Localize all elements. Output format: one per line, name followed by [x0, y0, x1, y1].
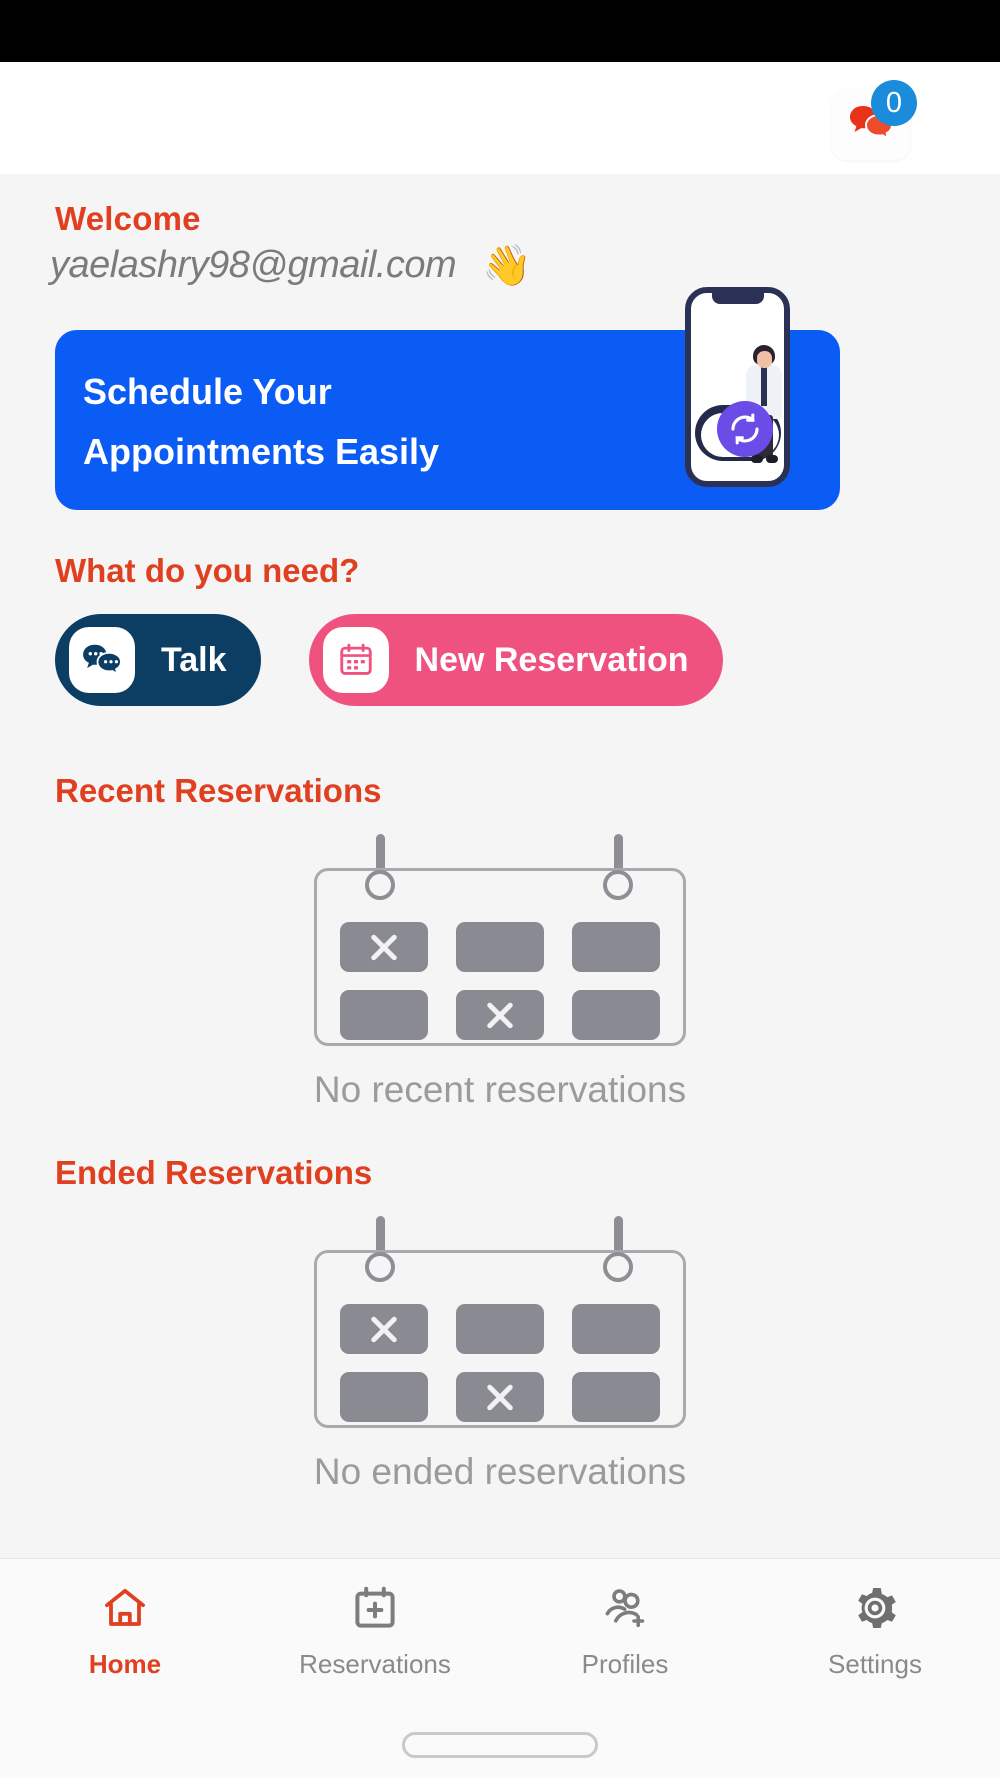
- nav-item-profiles[interactable]: Profiles: [500, 1581, 750, 1680]
- nav-label-profiles: Profiles: [582, 1649, 669, 1680]
- status-bar: [0, 0, 1000, 62]
- new-reservation-button[interactable]: New Reservation: [309, 614, 723, 706]
- sync-icon: [717, 401, 773, 457]
- home-indicator-area: [0, 1714, 1000, 1778]
- home-page: Welcome yaelashry98@gmail.com 👋 Schedule…: [0, 174, 1000, 1558]
- nav-item-reservations[interactable]: Reservations: [250, 1581, 500, 1680]
- quick-actions: Talk: [55, 614, 723, 706]
- users-add-icon: [600, 1581, 650, 1635]
- ended-reservations-empty-state: No ended reservations: [0, 1216, 1000, 1493]
- ended-empty-text: No ended reservations: [0, 1451, 1000, 1493]
- home-indicator[interactable]: [402, 1732, 598, 1758]
- app-screen: 0 Welcome yaelashry98@gmail.com 👋 Schedu…: [0, 0, 1000, 1778]
- bottom-navigation: Home Reservations: [0, 1558, 1000, 1714]
- nav-label-reservations: Reservations: [299, 1649, 451, 1680]
- promo-banner-title-line1: Schedule Your: [83, 362, 603, 422]
- phone-notch: [712, 293, 764, 304]
- waving-hand-icon: 👋: [482, 246, 532, 286]
- home-icon: [100, 1581, 150, 1635]
- recent-empty-text: No recent reservations: [0, 1069, 1000, 1111]
- talk-button-label: Talk: [161, 641, 227, 680]
- calendar-plus-icon: [351, 1581, 399, 1635]
- nav-label-home: Home: [89, 1649, 161, 1680]
- promo-banner-title: Schedule Your Appointments Easily: [83, 362, 603, 482]
- welcome-label: Welcome: [55, 200, 201, 238]
- nav-item-home[interactable]: Home: [0, 1581, 250, 1680]
- calendar-empty-icon: [314, 1216, 686, 1428]
- chat-unread-badge: 0: [871, 80, 917, 126]
- user-email-row: yaelashry98@gmail.com 👋: [50, 244, 532, 287]
- needs-heading: What do you need?: [55, 552, 359, 590]
- new-reservation-button-label: New Reservation: [415, 641, 689, 680]
- calendar-icon: [323, 627, 389, 693]
- app-bar: 0: [0, 62, 1000, 174]
- talk-button[interactable]: Talk: [55, 614, 261, 706]
- promo-banner[interactable]: Schedule Your Appointments Easily: [55, 330, 840, 510]
- recent-reservations-heading: Recent Reservations: [55, 772, 381, 810]
- chat-bubbles-icon: [69, 627, 135, 693]
- user-email: yaelashry98@gmail.com: [50, 244, 456, 287]
- nav-item-settings[interactable]: Settings: [750, 1581, 1000, 1680]
- recent-reservations-empty-state: No recent reservations: [0, 834, 1000, 1111]
- phone-mockup-illustration: [685, 287, 790, 487]
- promo-banner-title-line2: Appointments Easily: [83, 422, 603, 482]
- ended-reservations-heading: Ended Reservations: [55, 1154, 372, 1192]
- gear-icon: [851, 1581, 899, 1635]
- calendar-empty-icon: [314, 834, 686, 1046]
- nav-label-settings: Settings: [828, 1649, 922, 1680]
